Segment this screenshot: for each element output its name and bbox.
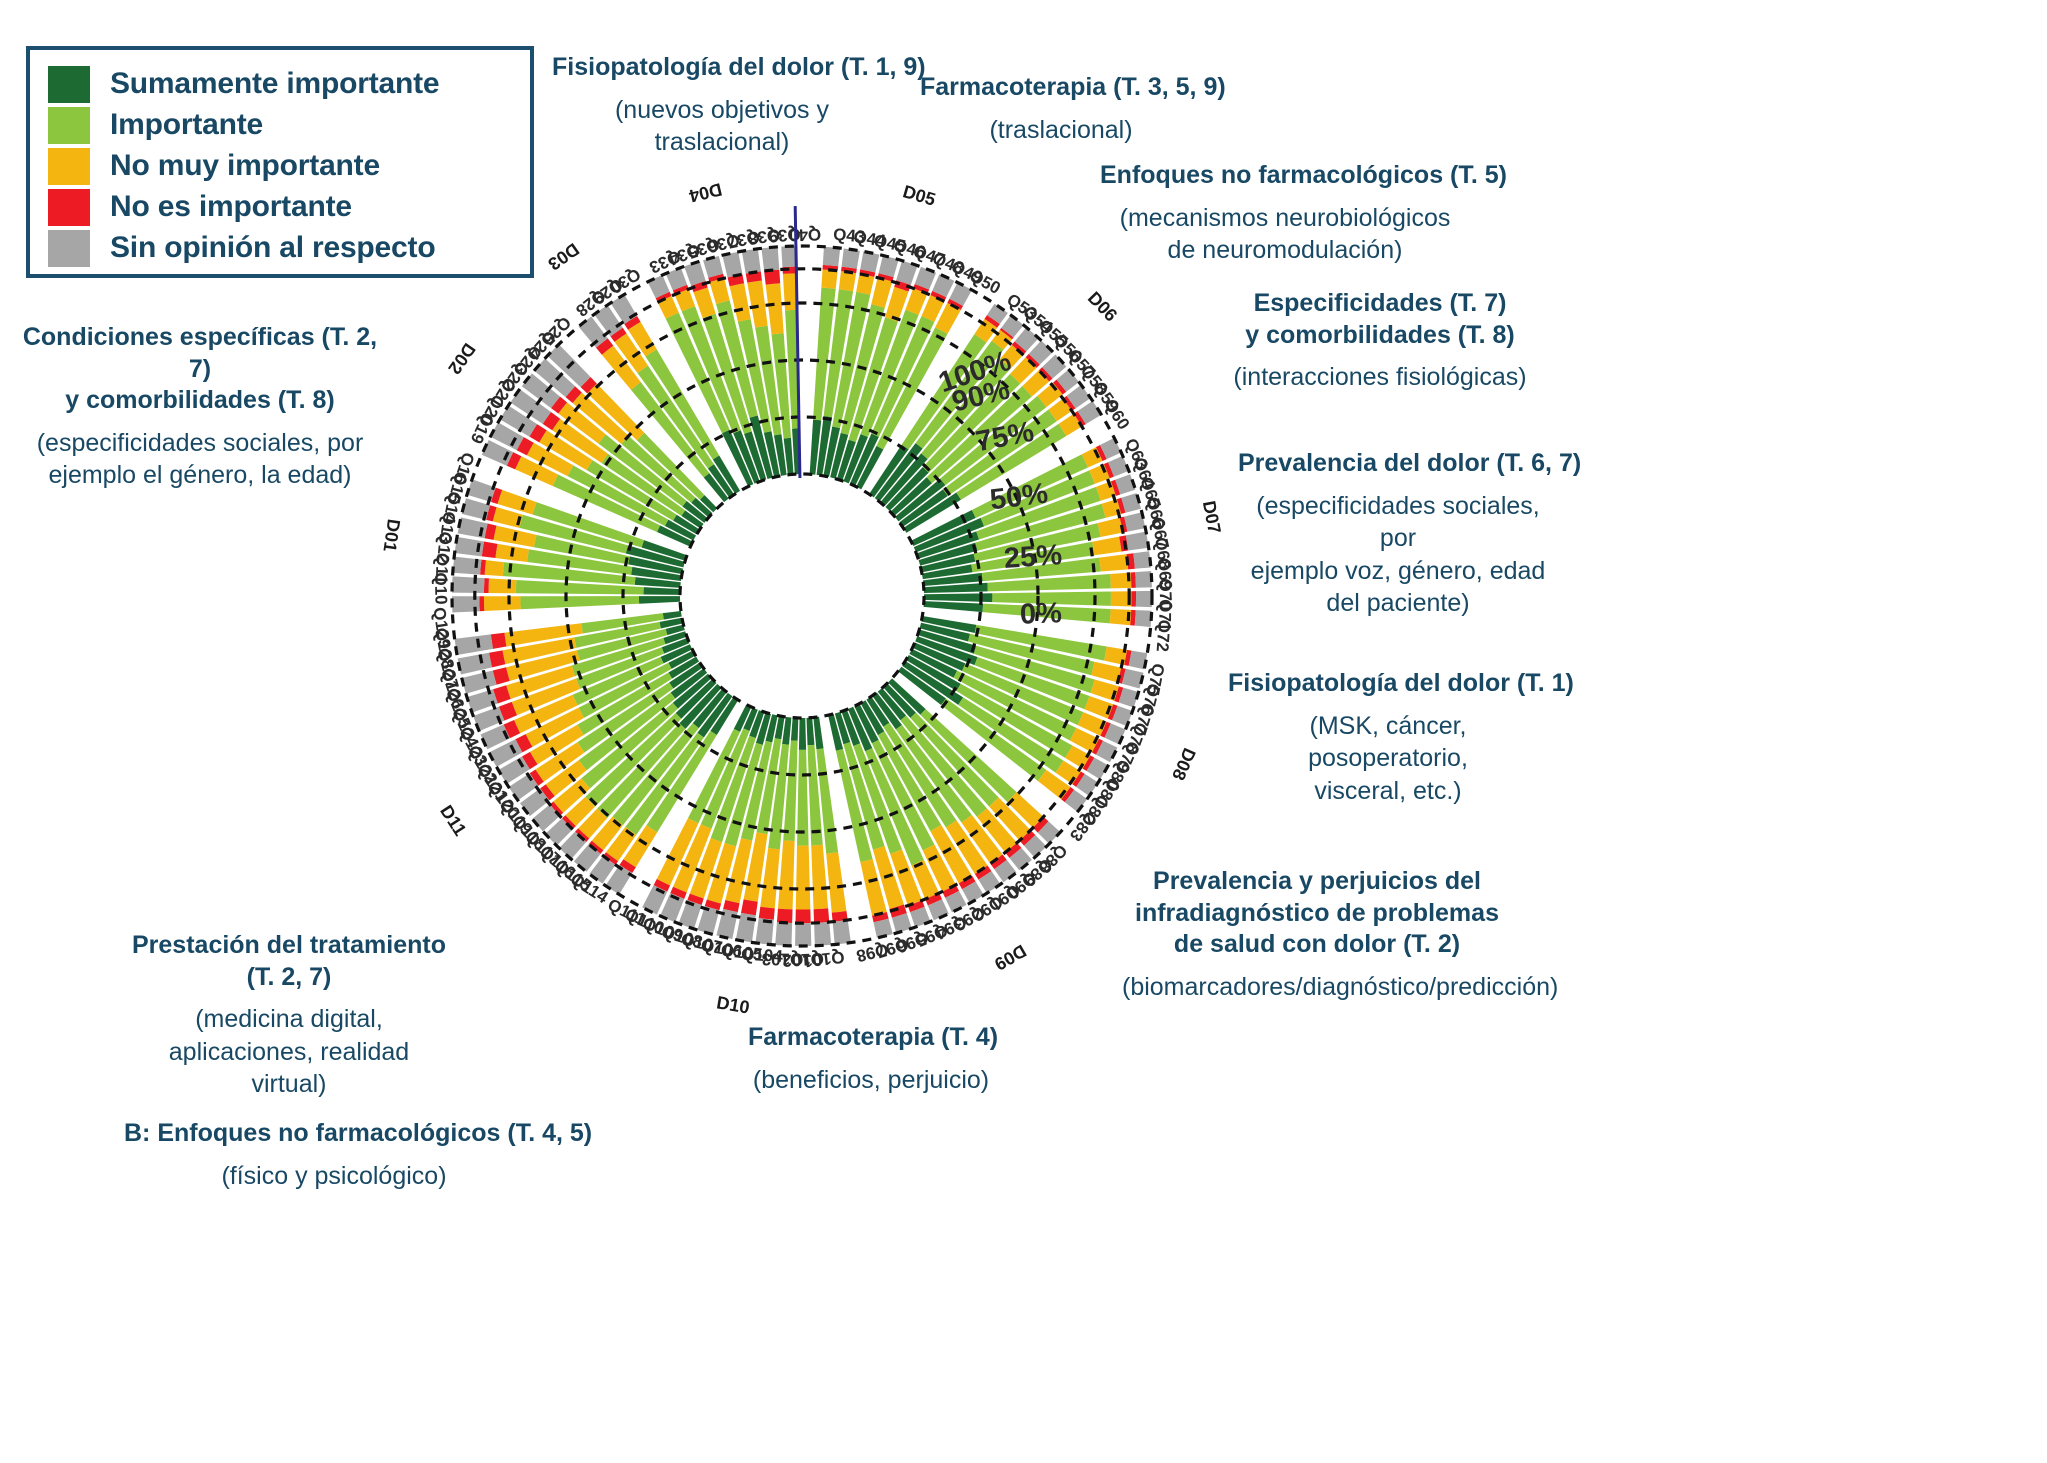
bar-segment [458, 653, 492, 675]
domain-label-D04: D04 [687, 179, 724, 206]
question-label: Q129 [429, 606, 454, 650]
bar-segment [823, 247, 840, 267]
axis-tick-25: 25% [1003, 539, 1063, 576]
bar-segment [1133, 551, 1151, 569]
callout-farmacoterapia-3-5-9: Farmacoterapia (T. 3, 5, 9) (traslaciona… [920, 72, 1202, 146]
legend-item: Sumamente importante [48, 64, 512, 104]
domain-label-D11: D11 [436, 802, 470, 840]
bar-segment [775, 922, 792, 946]
bar-segment [924, 601, 984, 612]
question-label: Q50 [966, 266, 1003, 298]
callout-fisiopatologia-1: Fisiopatología del dolor (T. 1) (MSK, cá… [1228, 668, 1548, 807]
legend-swatch-no-muy-importante [48, 148, 90, 185]
bar-segment [806, 718, 814, 746]
bar-segment [1131, 591, 1136, 607]
bar-segment [821, 269, 837, 288]
bar-segment [795, 923, 811, 946]
legend-label: Sumamente importante [110, 67, 439, 101]
bar-segment [644, 587, 681, 595]
callout-title: Prevalencia del dolor (T. 6, 7) [1238, 448, 1558, 480]
domain-label-D09: D09 [991, 941, 1030, 975]
bar-segment [1135, 610, 1152, 627]
callout-subtitle: (MSK, cáncer, posoperatorio,visceral, et… [1228, 710, 1548, 808]
bar-segment [796, 846, 811, 910]
bar-segment [455, 634, 493, 655]
bar-segment [484, 578, 489, 593]
legend-label: Importante [110, 108, 263, 142]
bar-segment [766, 283, 784, 334]
bar-segment [833, 920, 851, 944]
bar-segment [742, 249, 761, 274]
bar-segment [799, 718, 806, 750]
legend-label: No es importante [110, 190, 352, 224]
bar-segment [811, 845, 828, 909]
chart-center-hole [682, 476, 922, 716]
bar-segment [639, 596, 680, 604]
callout-subtitle: (especificidades sociales, porejemplo el… [20, 427, 380, 492]
legend-swatch-importante [48, 107, 90, 144]
bar-segment [467, 479, 496, 502]
callout-subtitle: (físico y psicológico) [124, 1160, 544, 1193]
callout-condiciones-especificas: Condiciones específicas (T. 2, 7)y comor… [20, 322, 380, 492]
domain-label-D10: D10 [715, 992, 751, 1017]
callout-title: B: Enfoques no farmacológicos (T. 4, 5) [124, 1118, 544, 1150]
question-label: Q40 [789, 225, 822, 245]
bar-segment [489, 650, 505, 667]
bar-segment [813, 717, 823, 749]
callout-title: Condiciones específicas (T. 2, 7)y comor… [20, 322, 380, 417]
bar-segment [484, 596, 521, 611]
bar-segment [1098, 518, 1123, 537]
bar-segment [761, 247, 779, 271]
domain-label-D01: D01 [379, 518, 404, 554]
chart-canvas: Q10Q11Q12Q13Q14Q15Q16Q19Q20Q21Q22Q23Q24Q… [342, 136, 1262, 1056]
bar-segment [741, 899, 758, 915]
bar-segment [482, 542, 498, 559]
legend-label: No muy importante [110, 149, 380, 183]
callout-enfoques-no-farmacologicos-4-5: B: Enfoques no farmacológicos (T. 4, 5) … [124, 1118, 544, 1192]
bar-segment [1091, 662, 1121, 683]
question-label: Q72 [1153, 619, 1174, 652]
bar-segment [1131, 572, 1136, 588]
bar-segment [856, 274, 874, 295]
bar-segment [814, 922, 831, 946]
domain-label-D08: D08 [1168, 745, 1200, 783]
callout-prevalencia-del-dolor-6-7: Prevalencia del dolor (T. 6, 7) (especif… [1238, 448, 1558, 620]
axis-tick-0: 0% [1019, 597, 1062, 631]
legend-swatch-no-es-importante [48, 189, 90, 226]
domain-label-D05: D05 [901, 181, 938, 209]
chart-page: Sumamente importante Importante No muy i… [0, 0, 2047, 1463]
callout-title: Farmacoterapia (T. 3, 5, 9) [920, 72, 1202, 104]
bar-segment [860, 251, 879, 272]
bar-segment [778, 840, 795, 909]
legend-swatch-sin-opinion [48, 230, 90, 267]
callout-subtitle: (especificidades sociales, porejemplo vo… [1238, 490, 1558, 620]
bar-segment [1136, 591, 1152, 607]
bar-segment [1099, 554, 1128, 571]
domain-label-D02: D02 [444, 339, 479, 378]
bar-segment [1135, 571, 1152, 588]
bar-segment [452, 576, 484, 593]
bar-segment [826, 852, 846, 912]
domain-label-D07: D07 [1199, 499, 1225, 535]
callout-title: Fisiopatología del dolor (T. 1) [1228, 668, 1548, 700]
domain-label-D03: D03 [544, 239, 583, 274]
legend-swatch-sumamente-importante [48, 66, 90, 103]
bar-segment [491, 633, 507, 649]
bar-segment [795, 909, 810, 923]
bar-segment [1092, 537, 1121, 556]
bar-segment [520, 596, 639, 609]
bar-segment [479, 596, 484, 611]
bar-segment [871, 278, 892, 308]
circular-stacked-bar-chart: Q10Q11Q12Q13Q14Q15Q16Q19Q20Q21Q22Q23Q24Q… [342, 136, 1262, 1056]
bar-segment [1122, 669, 1144, 689]
bar-segment [710, 278, 730, 304]
bar-segment [485, 560, 504, 576]
callout-title: Fisiopatología del dolor (T. 1, 9) [552, 52, 892, 84]
bar-segment [791, 718, 798, 741]
bar-segment [839, 271, 856, 291]
bar-segment [879, 255, 899, 277]
callout-subtitle: (beneficios, perjuicio) [748, 1064, 994, 1097]
domain-label-D06: D06 [1084, 288, 1121, 326]
bar-segment [488, 578, 516, 593]
bar-segment [663, 611, 682, 620]
bar-segment [759, 907, 775, 920]
axis-tick-50: 50% [988, 478, 1050, 518]
question-label: Q98 [854, 939, 890, 965]
